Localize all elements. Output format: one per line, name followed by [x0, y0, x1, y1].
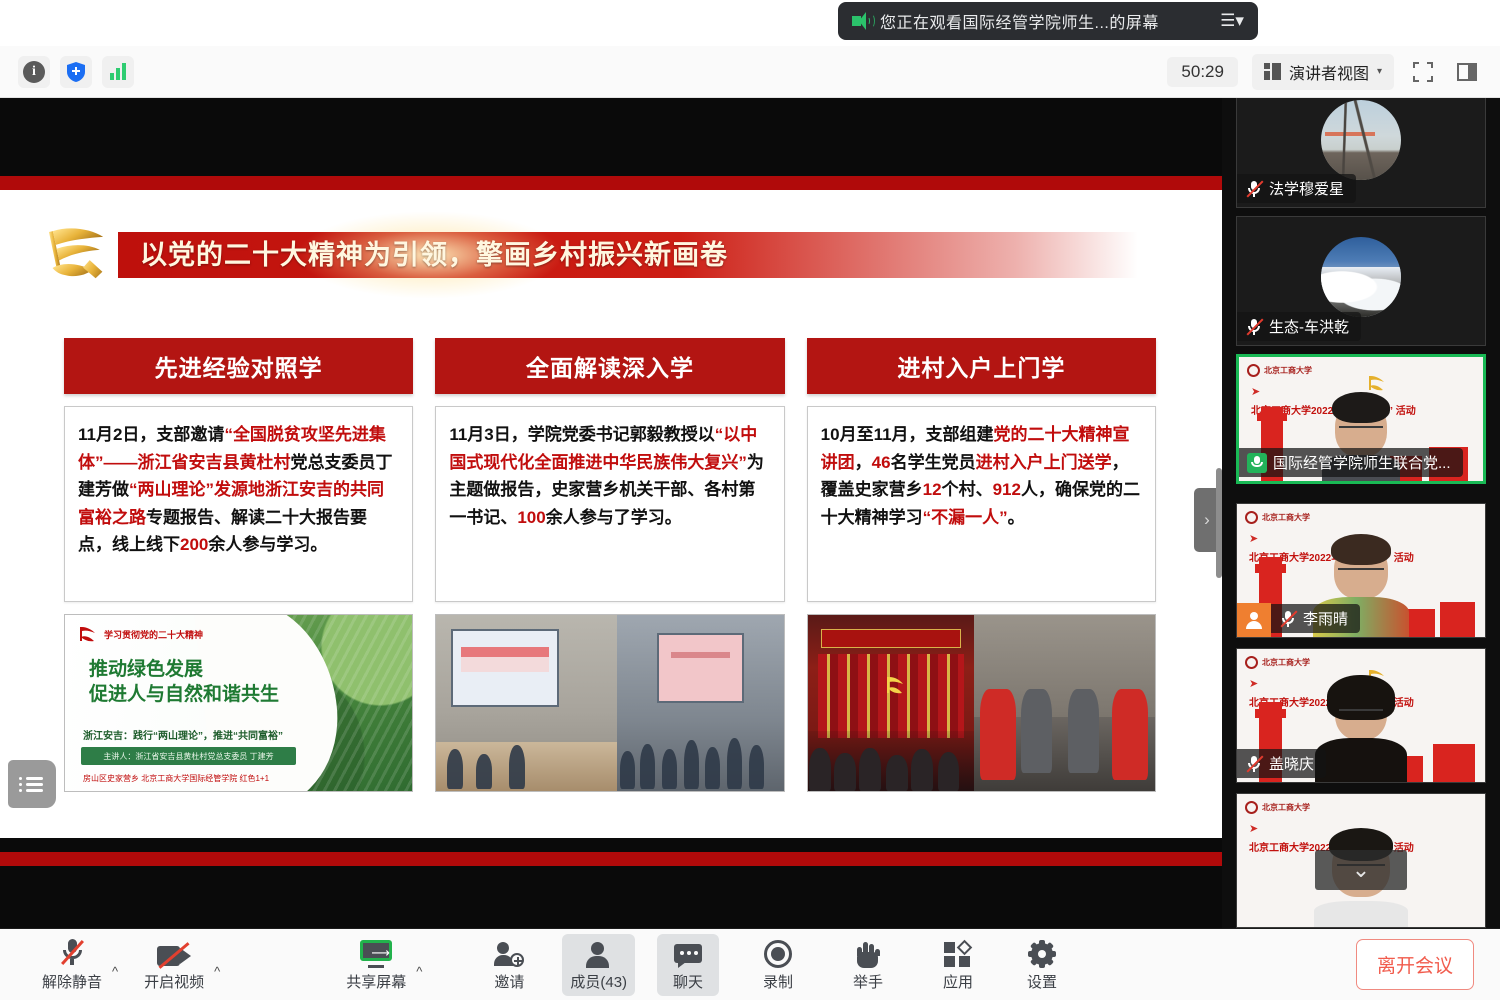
slide-column-3: 进村入户上门学 10月至11月，支部组建党的二十大精神宣讲团，46名学生党员进村… — [807, 338, 1156, 808]
scroll-down-button[interactable]: ⌄ — [1315, 850, 1407, 890]
university-name: 北京工商大学 — [1262, 802, 1310, 813]
shield-icon — [65, 61, 87, 83]
column-heading: 全面解读深入学 — [435, 338, 784, 394]
record-button[interactable]: 录制 — [747, 934, 809, 996]
settings-label: 设置 — [1027, 971, 1057, 992]
screen-share-banner: 您正在观看国际经管学院师生...的屏幕 ☰▾ — [838, 2, 1258, 40]
invite-person-icon — [494, 938, 524, 968]
meeting-hall-photo — [808, 615, 975, 791]
security-button[interactable] — [60, 56, 92, 88]
mic-muted-icon — [1245, 318, 1263, 336]
participant-name: 生态-车洪乾 — [1269, 316, 1349, 337]
participant-tile[interactable]: 生态-车洪乾 — [1236, 216, 1486, 346]
participants-label: 成员(43) — [570, 971, 627, 992]
lecture-photo-left — [436, 615, 617, 791]
projection-screen — [451, 629, 559, 706]
volunteer-figure — [1112, 689, 1148, 781]
top-toolbar-right-group: 50:29 演讲者视图 ▾ — [1167, 54, 1500, 90]
participant-tile-active-speaker[interactable]: 北京工商大学 ➤ 北京工商大学2022年红色 “1+1” 活动 国际经管学院师生… — [1236, 354, 1486, 484]
share-banner-text: 您正在观看国际经管学院师生...的屏幕 — [880, 9, 1204, 33]
home-visit-photo — [974, 615, 1155, 791]
poster-speaker-strip: 主讲人：浙江省安吉县黄杜村党总支委员 丁建芳 — [81, 747, 296, 765]
mic-muted-icon — [1245, 755, 1263, 773]
camera-off-icon — [157, 938, 191, 968]
slide-title-ribbon: 以党的二十大精神为引领，擎画乡村振兴新画卷 — [0, 206, 1200, 302]
shared-screen-stage[interactable]: 以党的二十大精神为引领，擎画乡村振兴新画卷 先进经验对照学 11月2日，支部邀请… — [0, 98, 1222, 928]
video-control-group: 开启视频 ^ — [136, 934, 220, 996]
participant-video-figure — [1315, 682, 1407, 782]
unmute-button[interactable]: 解除静音 — [34, 934, 110, 996]
person-icon — [1246, 612, 1262, 628]
seal-icon — [1247, 364, 1260, 377]
column-heading: 先进经验对照学 — [64, 338, 413, 394]
audience-silhouettes — [436, 703, 617, 791]
slide-bottom-red-rule — [0, 852, 1222, 866]
chat-label: 聊天 — [673, 971, 703, 992]
seal-icon — [1245, 511, 1258, 524]
fullscreen-button[interactable] — [1408, 58, 1438, 86]
poster-badge: 学习贯彻党的二十大精神 — [77, 625, 203, 643]
record-icon — [764, 938, 792, 968]
side-panel-toggle[interactable] — [1452, 58, 1482, 86]
avatar — [1321, 100, 1401, 180]
view-mode-label: 演讲者视图 — [1289, 60, 1369, 84]
slide-title: 以党的二十大精神为引领，擎画乡村振兴新画卷 — [140, 232, 728, 278]
university-name: 北京工商大学 — [1262, 512, 1310, 523]
speaker-icon — [852, 12, 872, 30]
raise-hand-button[interactable]: 举手 — [837, 934, 899, 996]
poster-title: 推动绿色发展 促进人与自然和谐共生 — [89, 657, 279, 707]
audience-silhouettes — [808, 731, 975, 791]
slide-column-1: 先进经验对照学 11月2日，支部邀请“全国脱贫攻坚先进集体”——浙江省安吉县黄杜… — [64, 338, 413, 808]
dove-icon: ➤ — [1249, 822, 1258, 835]
chevron-right-icon: › — [1204, 510, 1210, 530]
university-name: 北京工商大学 — [1262, 657, 1310, 668]
signal-bars-icon — [110, 63, 126, 80]
dove-icon: ➤ — [1249, 677, 1258, 690]
presentation-slide: 以党的二十大精神为引领，擎画乡村振兴新画卷 先进经验对照学 11月2日，支部邀请… — [0, 98, 1222, 928]
poster-title-line1: 推动绿色发展 — [89, 657, 279, 682]
projection-screen — [657, 633, 744, 703]
slide-bottom-black-band — [0, 838, 1222, 852]
slide-top-red-rule — [0, 176, 1222, 190]
participants-button[interactable]: 成员(43) — [562, 934, 635, 996]
start-video-label: 开启视频 — [144, 971, 204, 992]
column-body-text: 11月2日，支部邀请“全国脱贫攻坚先进集体”——浙江省安吉县黄杜村党总支委员丁建… — [64, 406, 413, 602]
column-body-text: 11月3日，学院党委书记郭毅教授以“以中国式现代化全面推进中华民族伟大复兴”为主… — [435, 406, 784, 602]
participant-namebar: 法学穆爱星 — [1237, 174, 1356, 203]
mic-muted-icon — [1245, 180, 1263, 198]
apps-button[interactable]: 应用 — [927, 934, 989, 996]
seal-icon — [1245, 801, 1258, 814]
share-options-chevron-icon[interactable]: ^ — [416, 964, 422, 979]
slide-column-2: 全面解读深入学 11月3日，学院党委书记郭毅教授以“以中国式现代化全面推进中华民… — [435, 338, 784, 808]
mic-active-icon — [1247, 453, 1267, 473]
meeting-control-bar: 解除静音 ^ 开启视频 ^ ⟶ 共享屏幕 ^ 邀请 成员 — [0, 928, 1500, 1000]
share-banner-menu-icon[interactable]: ☰▾ — [1212, 6, 1252, 36]
participant-name: 国际经管学院师生联合党... — [1273, 452, 1451, 473]
mic-muted-icon — [59, 938, 85, 968]
villager-figure — [1021, 689, 1052, 773]
party-emblem-small-icon — [1366, 374, 1386, 392]
top-toolbar-left-group: i — [0, 56, 134, 88]
university-logo: 北京工商大学 — [1247, 364, 1312, 377]
start-video-button[interactable]: 开启视频 — [136, 934, 212, 996]
video-options-chevron-icon[interactable]: ^ — [214, 964, 220, 979]
party-emblem-small-icon — [884, 675, 906, 695]
avatar — [1321, 237, 1401, 317]
view-mode-selector[interactable]: 演讲者视图 ▾ — [1252, 54, 1394, 90]
party-emblem-icon — [24, 210, 134, 296]
participant-namebar: 国际经管学院师生联合党... — [1239, 448, 1463, 477]
speaker-view-icon — [1264, 63, 1281, 80]
share-control-group: ⟶ 共享屏幕 ^ — [338, 934, 422, 996]
party-emblem-small-icon — [77, 625, 97, 643]
slide-columns: 先进经验对照学 11月2日，支部邀请“全国脱贫攻坚先进集体”——浙江省安吉县黄杜… — [64, 338, 1156, 808]
dove-icon: ➤ — [1249, 532, 1258, 545]
participant-namebar: 盖晓庆 — [1237, 749, 1326, 778]
invite-button[interactable]: 邀请 — [478, 934, 540, 996]
share-screen-icon: ⟶ — [359, 938, 393, 968]
poster-badge-text: 学习贯彻党的二十大精神 — [104, 628, 203, 641]
avatar-placeholder-badge — [1237, 603, 1271, 637]
audio-options-chevron-icon[interactable]: ^ — [112, 964, 118, 979]
audio-control-group: 解除静音 ^ — [34, 934, 118, 996]
column-photo-1: 学习贯彻党的二十大精神 推动绿色发展 促进人与自然和谐共生 浙江安吉：践行“两山… — [64, 614, 413, 792]
unmute-label: 解除静音 — [42, 971, 102, 992]
participant-name: 李雨晴 — [1303, 608, 1348, 629]
participant-tile[interactable]: 法学穆爱星 — [1236, 98, 1486, 208]
panel-layout-icon — [1457, 63, 1477, 81]
apps-label: 应用 — [943, 971, 973, 992]
chat-icon — [674, 938, 702, 968]
settings-button[interactable]: 设置 — [1011, 934, 1073, 996]
raise-hand-icon — [855, 938, 881, 968]
gear-icon — [1028, 938, 1056, 968]
participant-namebar: 生态-车洪乾 — [1237, 312, 1361, 341]
meeting-info-button[interactable]: i — [18, 56, 50, 88]
poster-title-line2: 促进人与自然和谐共生 — [89, 682, 279, 707]
column-photo-3 — [807, 614, 1156, 792]
university-name: 北京工商大学 — [1264, 365, 1312, 376]
participant-rail[interactable]: 法学穆爱星 生态-车洪乾 北京工商大学 ➤ 北京工商大学2022年红色 “1+1… — [1222, 98, 1500, 928]
volunteer-figure — [980, 689, 1016, 781]
participant-name: 法学穆爱星 — [1269, 178, 1344, 199]
column-photo-2 — [435, 614, 784, 792]
hall-curtain — [818, 654, 965, 738]
seal-icon — [1245, 656, 1258, 669]
participants-icon — [585, 938, 613, 968]
audience-silhouettes — [617, 703, 784, 791]
participant-name: 盖晓庆 — [1269, 753, 1314, 774]
fullscreen-icon — [1412, 61, 1434, 83]
mic-muted-icon — [1279, 610, 1297, 628]
raise-hand-label: 举手 — [853, 971, 883, 992]
rail-scrollbar[interactable] — [1216, 468, 1222, 578]
participant-namebar: 李雨晴 — [1271, 604, 1360, 633]
poster-subtitle: 浙江安吉：践行“两山理论”，推进“共同富裕” — [83, 727, 283, 742]
meeting-top-toolbar: i 50:29 演讲者视图 ▾ — [0, 46, 1500, 98]
chevron-down-icon: ▾ — [1377, 66, 1382, 77]
slide-top-black-band — [0, 98, 1222, 176]
meeting-timer: 50:29 — [1167, 57, 1238, 87]
dove-icon: ➤ — [1251, 385, 1260, 398]
info-icon: i — [23, 61, 45, 83]
villager-figure — [1068, 689, 1099, 773]
university-logo: 北京工商大学 — [1245, 801, 1310, 814]
column-heading: 进村入户上门学 — [807, 338, 1156, 394]
chat-button[interactable]: 聊天 — [657, 934, 719, 996]
hall-banner — [821, 629, 961, 648]
list-icon — [19, 774, 45, 795]
university-logo: 北京工商大学 — [1245, 511, 1310, 524]
chevron-down-icon: ⌄ — [1352, 857, 1370, 883]
share-screen-button[interactable]: ⟶ 共享屏幕 — [338, 934, 414, 996]
participant-tile[interactable]: 北京工商大学 ➤ 北京工商大学2022年红色 “1+1” 活动 李雨晴 — [1236, 503, 1486, 638]
annotation-list-button[interactable] — [8, 760, 56, 808]
record-label: 录制 — [763, 971, 793, 992]
slide-bottom-black-band-2 — [0, 866, 1222, 928]
leave-meeting-button[interactable]: 离开会议 — [1356, 939, 1474, 990]
poster-footer: 房山区史家营乡 北京工商大学国际经管学院 红色1+1 — [83, 773, 269, 784]
lecture-photo-right — [617, 615, 784, 791]
network-stats-button[interactable] — [102, 56, 134, 88]
university-logo: 北京工商大学 — [1245, 656, 1310, 669]
invite-label: 邀请 — [494, 971, 524, 992]
share-screen-label: 共享屏幕 — [346, 971, 406, 992]
apps-grid-icon — [944, 938, 972, 968]
participant-tile[interactable]: 北京工商大学 ➤ 北京工商大学2022年红色 “1+1” 活动 盖晓庆 — [1236, 648, 1486, 783]
column-body-text: 10月至11月，支部组建党的二十大精神宣讲团，46名学生党员进村入户上门送学，覆… — [807, 406, 1156, 602]
